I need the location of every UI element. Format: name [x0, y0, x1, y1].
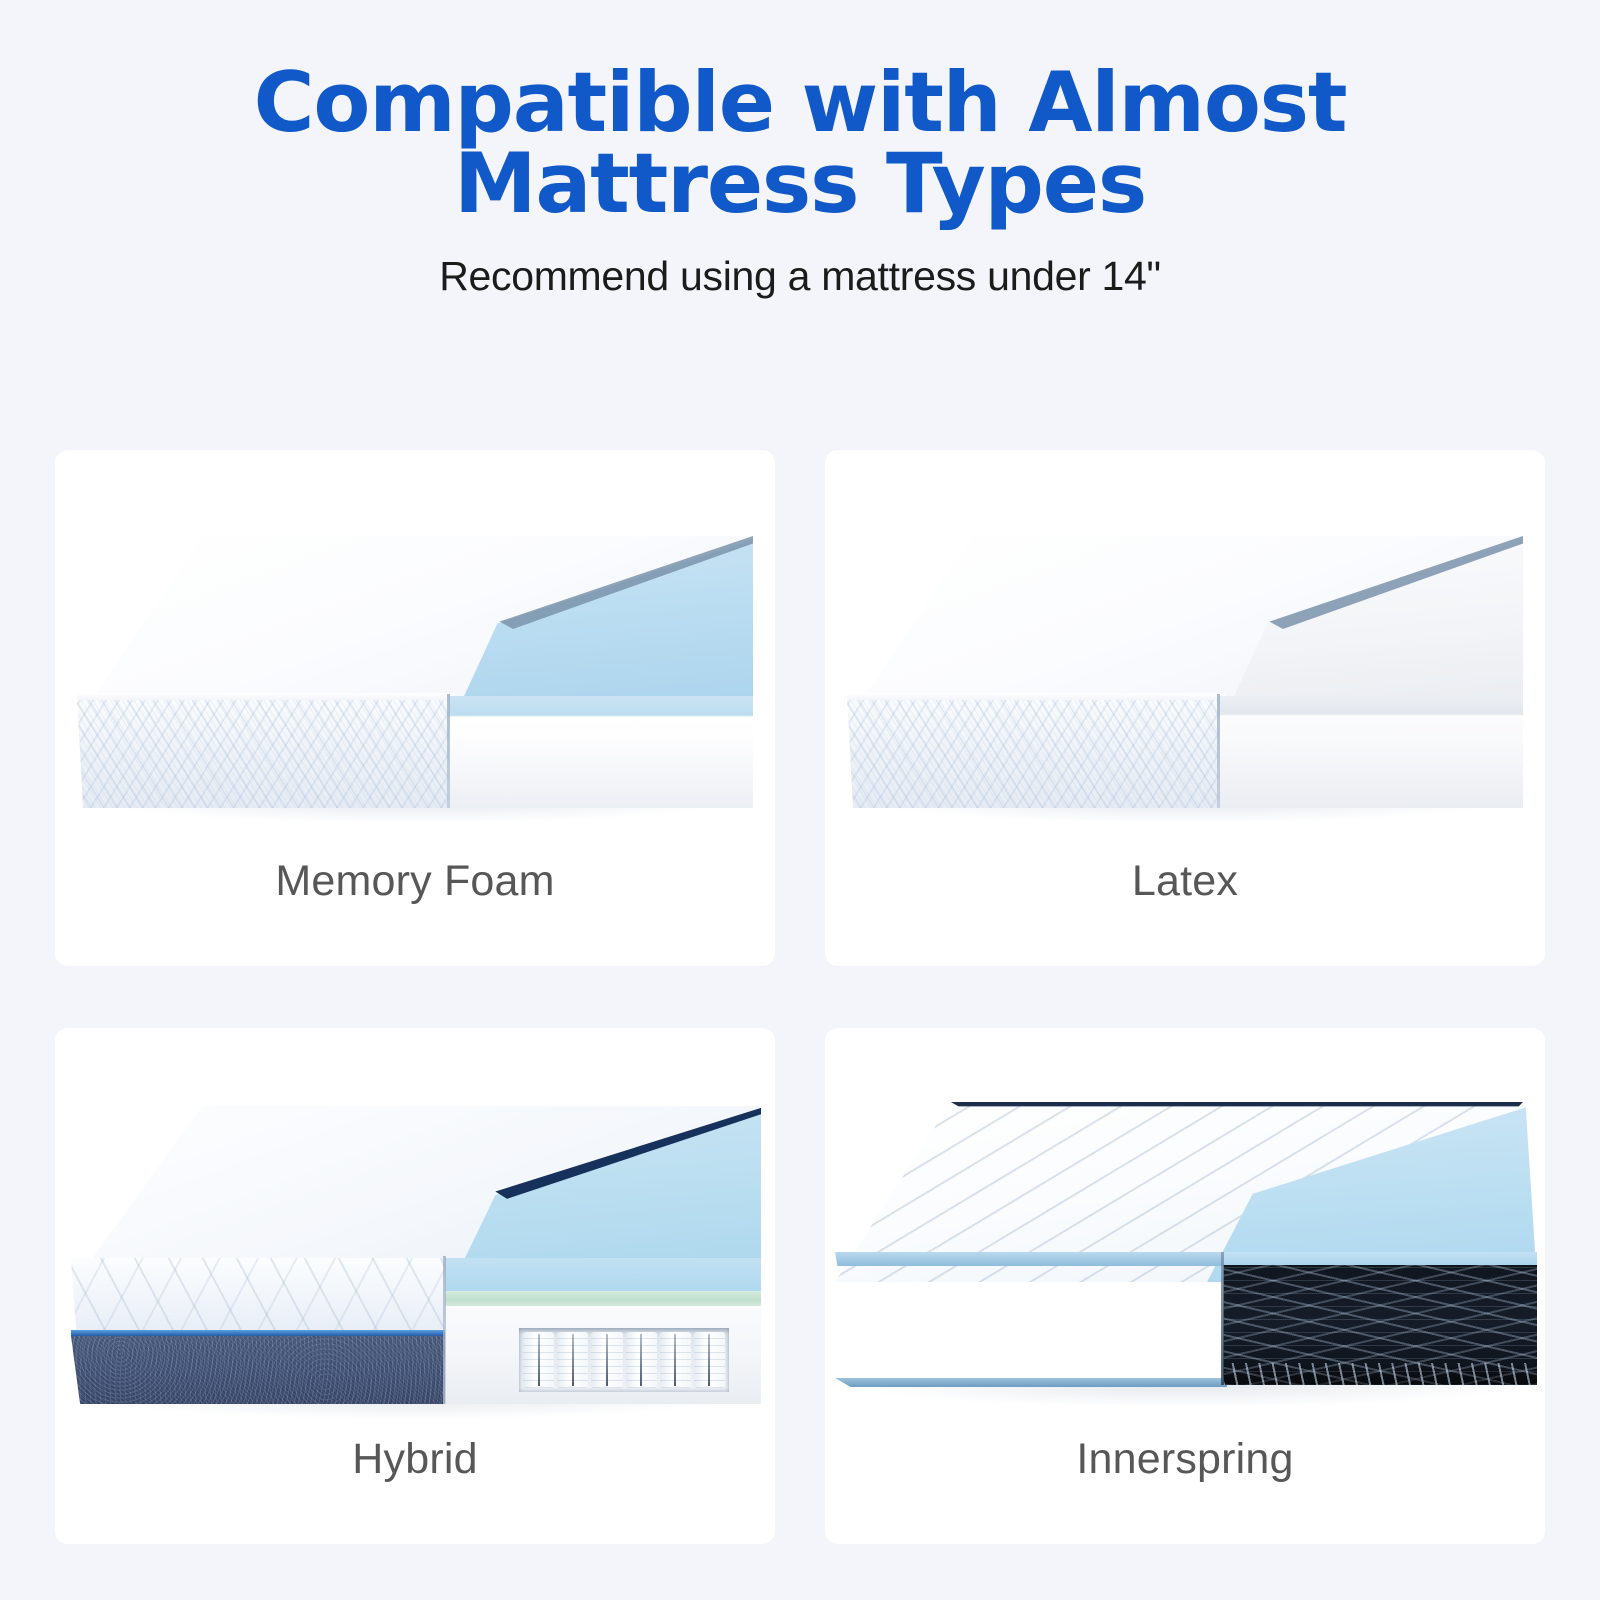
pocket-coil [557, 1332, 588, 1388]
cover-front-lip [847, 693, 1225, 700]
mattress-graphic-latex [847, 536, 1523, 806]
exposed-coil-unit [1223, 1265, 1537, 1385]
infographic-page: Compatible with Almost Mattress Types Re… [0, 0, 1600, 1600]
card-label-innerspring: Innerspring [825, 1435, 1545, 1484]
cutaway-seam [1221, 1252, 1224, 1385]
drop-shadow [841, 1384, 1531, 1408]
cutaway-seam [447, 694, 450, 808]
side-foot-trim [835, 1378, 1227, 1387]
pocket-coil [591, 1332, 622, 1388]
latex-illustration [825, 450, 1545, 840]
cutaway-seam [443, 1256, 446, 1404]
foam-core-front-face [449, 696, 753, 808]
memory-foam-illustration [55, 450, 775, 840]
card-label-hybrid: Hybrid [55, 1435, 775, 1484]
card-innerspring[interactable]: Innerspring [825, 1028, 1545, 1544]
pocket-coil [626, 1332, 657, 1388]
mattress-graphic-hybrid [71, 1106, 761, 1394]
title-line-2: Mattress Types [0, 143, 1600, 224]
header: Compatible with Almost Mattress Types Re… [0, 0, 1600, 300]
pocket-coil-window [519, 1328, 729, 1392]
mattress-graphic-innerspring [835, 1102, 1537, 1382]
card-memory-foam[interactable]: Memory Foam [55, 450, 775, 966]
page-subtitle: Recommend using a mattress under 14" [0, 225, 1600, 300]
cover-front-lip [77, 693, 455, 700]
cutaway-seam [1217, 694, 1220, 808]
pocket-coil [523, 1332, 554, 1388]
card-label-latex: Latex [825, 857, 1545, 906]
card-label-memory-foam: Memory Foam [55, 857, 775, 906]
innerspring-illustration [825, 1028, 1545, 1418]
knit-cover-front-face [77, 696, 455, 808]
hybrid-illustration [55, 1028, 775, 1418]
page-title: Compatible with Almost Mattress Types [0, 0, 1600, 225]
mattress-type-grid: Memory Foam Latex [55, 450, 1545, 1544]
knit-cover-front-face [847, 696, 1225, 808]
foam-core-front-face [1219, 696, 1523, 808]
quilted-cover-front-face [71, 1258, 451, 1332]
gel-layer-front-band [445, 1258, 761, 1292]
light-blue-edge-band [835, 1252, 1227, 1266]
card-latex[interactable]: Latex [825, 450, 1545, 966]
navy-base-layer [71, 1336, 451, 1404]
card-hybrid[interactable]: Hybrid [55, 1028, 775, 1544]
pocket-coil [660, 1332, 691, 1388]
blue-piping-trim [71, 1330, 451, 1337]
pocket-coil [694, 1332, 725, 1388]
mint-transition-layer [445, 1291, 761, 1307]
pocket-coil-row [523, 1332, 725, 1388]
diamond-quilted-side-panel [835, 1265, 1227, 1385]
mattress-graphic-memory-foam [77, 536, 753, 806]
